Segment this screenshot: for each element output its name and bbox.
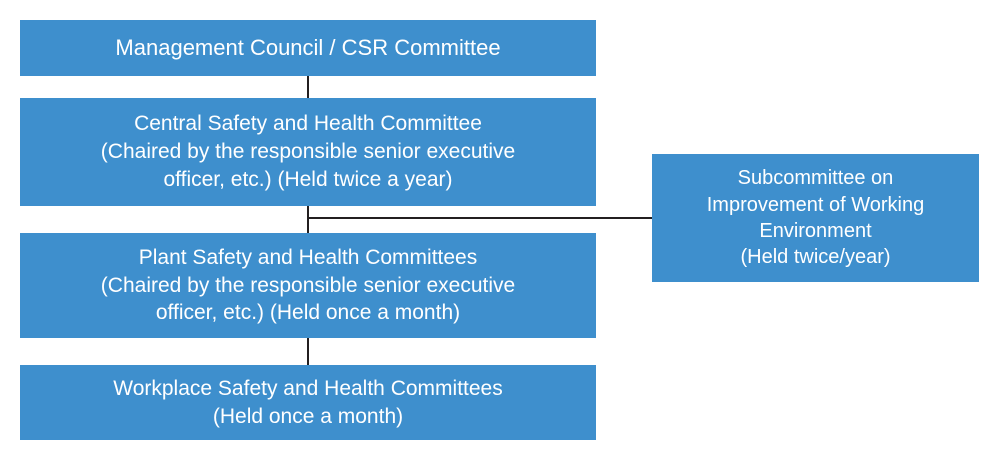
node-plant-committees-line-3: officer, etc.) (Held once a month) xyxy=(156,299,460,327)
node-central-committee: Central Safety and Health Committee (Cha… xyxy=(20,98,596,206)
node-subcommittee-line-3: Environment xyxy=(759,218,871,244)
node-subcommittee-line-2: Improvement of Working xyxy=(707,192,925,218)
node-workplace-committees-line-2: (Held once a month) xyxy=(213,403,403,431)
node-workplace-committees-line-1: Workplace Safety and Health Committees xyxy=(113,375,502,403)
node-subcommittee-line-1: Subcommittee on xyxy=(738,165,894,191)
connector-plant-to-workplace xyxy=(307,338,309,365)
node-central-committee-line-2: (Chaired by the responsible senior execu… xyxy=(101,138,515,166)
node-management-council: Management Council / CSR Committee xyxy=(20,20,596,76)
node-plant-committees: Plant Safety and Health Committees (Chai… xyxy=(20,233,596,338)
node-subcommittee-line-4: (Held twice/year) xyxy=(740,244,890,270)
node-central-committee-line-3: officer, etc.) (Held twice a year) xyxy=(163,166,452,194)
node-plant-committees-line-1: Plant Safety and Health Committees xyxy=(139,244,478,272)
connector-central-to-plant xyxy=(307,206,309,233)
node-workplace-committees: Workplace Safety and Health Committees (… xyxy=(20,365,596,440)
connector-management-to-central xyxy=(307,76,309,98)
node-plant-committees-line-2: (Chaired by the responsible senior execu… xyxy=(101,272,515,300)
connector-central-to-subcommittee xyxy=(307,217,653,219)
node-central-committee-line-1: Central Safety and Health Committee xyxy=(134,110,482,138)
org-chart-canvas: Management Council / CSR Committee Centr… xyxy=(0,0,1000,459)
node-management-council-line-1: Management Council / CSR Committee xyxy=(115,33,500,62)
node-subcommittee-working-environment: Subcommittee on Improvement of Working E… xyxy=(652,154,979,282)
